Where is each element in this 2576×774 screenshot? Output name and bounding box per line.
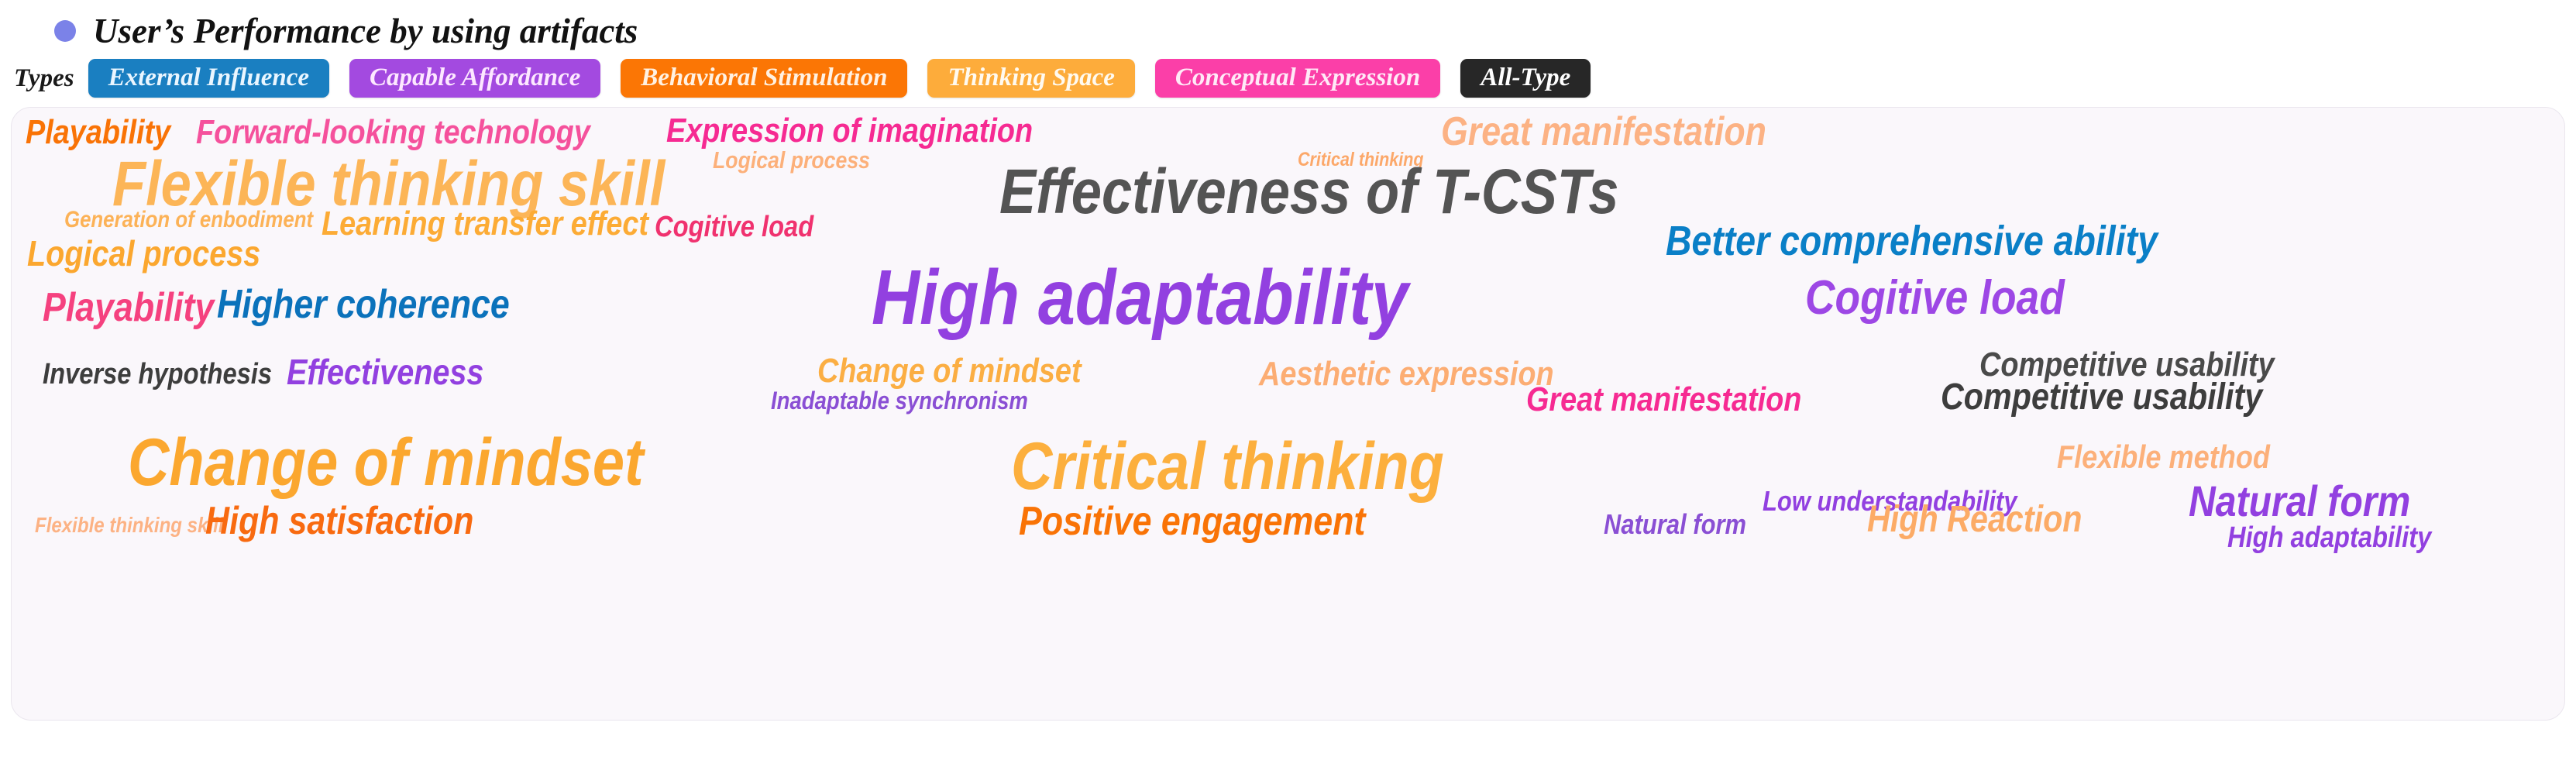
cloud-word[interactable]: Playability [26, 115, 170, 150]
cloud-word[interactable]: Effectiveness [287, 354, 483, 390]
page-header: User’s Performance by using artifacts [0, 0, 2576, 48]
legend-chip-conceptual-expression[interactable]: Conceptual Expression [1155, 59, 1440, 98]
cloud-word[interactable]: High satisfaction [205, 501, 473, 540]
cloud-word[interactable]: Change of mindset [128, 429, 644, 496]
cloud-word[interactable]: Flexible thinking skill [35, 514, 224, 536]
cloud-word[interactable]: Great manifestation [1441, 112, 1766, 152]
word-cloud-panel: PlayabilityForward-looking technologyExp… [11, 107, 2565, 721]
cloud-word[interactable]: High Reaction [1867, 501, 2082, 538]
cloud-word[interactable]: Change of mindset [817, 354, 1082, 388]
cloud-word[interactable]: Better comprehensive ability [1666, 220, 2158, 262]
legend-chip-group: External InfluenceCapable AffordanceBeha… [88, 59, 1611, 98]
cloud-word[interactable]: Higher coherence [217, 284, 510, 325]
cloud-word[interactable]: Positive engagement [1019, 501, 1365, 542]
page-title: User’s Performance by using artifacts [93, 11, 638, 51]
cloud-word[interactable]: Natural form [2189, 480, 2410, 523]
legend-chip-capable-affordance[interactable]: Capable Affordance [349, 59, 600, 98]
cloud-word[interactable]: Inadaptable synchronism [771, 388, 1028, 413]
legend-chip-all-type[interactable]: All-Type [1460, 59, 1591, 98]
cloud-word[interactable]: Logical process [27, 236, 260, 271]
legend-chip-external-influence[interactable]: External Influence [88, 59, 329, 98]
legend-label: Types [14, 64, 74, 93]
cloud-word[interactable]: Natural form [1604, 511, 1746, 538]
cloud-word[interactable]: Playability [43, 287, 214, 328]
cloud-word[interactable]: Cogitive load [655, 212, 813, 242]
cloud-word[interactable]: Inverse hypothesis [43, 359, 272, 389]
cloud-word[interactable]: High adaptability [2227, 523, 2431, 552]
cloud-word[interactable]: Expression of imagination [666, 114, 1033, 148]
cloud-word[interactable]: Forward-looking technology [196, 115, 590, 150]
cloud-word[interactable]: Aesthetic expression [1259, 357, 1554, 391]
cloud-word[interactable]: High adaptability [872, 259, 1408, 336]
cloud-word[interactable]: Flexible method [2057, 441, 2270, 473]
cloud-word[interactable]: Logical process [713, 148, 870, 172]
cloud-word[interactable]: Competitive usability [1941, 379, 2262, 416]
cloud-word[interactable]: Cogitive load [1805, 274, 2065, 322]
legend-bar: Types External InfluenceCapable Affordan… [0, 48, 2576, 101]
bullet-dot-icon [54, 20, 76, 42]
cloud-word[interactable]: Effectiveness of T-CSTs [999, 160, 1618, 224]
cloud-word[interactable]: Learning transfer effect [322, 207, 648, 241]
cloud-word[interactable]: Critical thinking [1011, 433, 1444, 500]
cloud-word[interactable]: Great manifestation [1526, 383, 1801, 417]
legend-chip-thinking-space[interactable]: Thinking Space [927, 59, 1134, 98]
cloud-word[interactable]: Generation of enbodiment [64, 208, 313, 232]
legend-chip-behavioral-stimulation[interactable]: Behavioral Stimulation [621, 59, 907, 98]
